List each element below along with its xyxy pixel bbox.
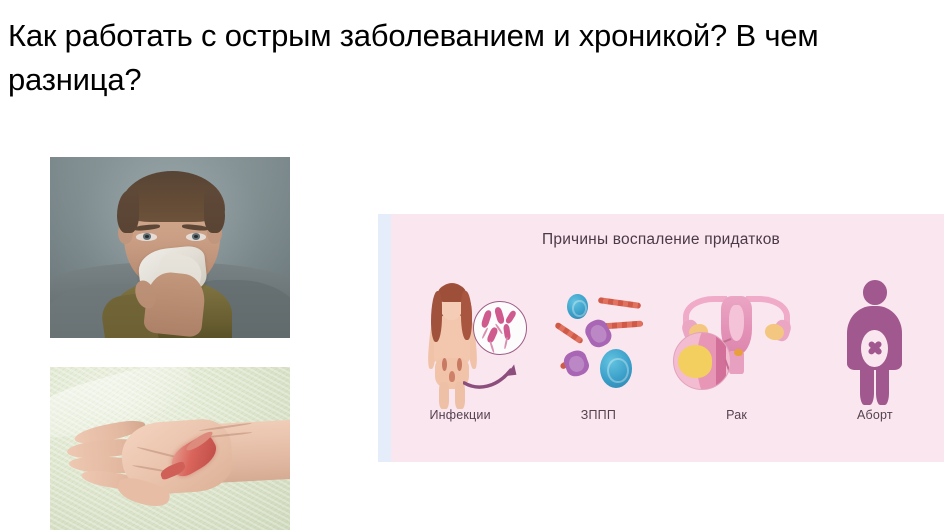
hair-right-shape [461, 291, 472, 340]
spirochete-shape [554, 322, 584, 345]
leg-left-shape [860, 368, 873, 405]
bacterium-shape [480, 310, 492, 329]
infographic-panel: Причины воспаление придатков [378, 214, 944, 462]
infographic-item-label: Рак [726, 408, 747, 422]
pictogram-shape [844, 280, 905, 404]
tumor-mass-shape [678, 345, 713, 377]
flagellum-shape [503, 337, 507, 349]
head-shape [863, 280, 887, 305]
slide: Как работать с острым заболеванием и хро… [0, 0, 944, 530]
bacterium-shape [561, 348, 591, 380]
woman-with-bacteria-lens-icon [391, 272, 529, 404]
infographic-item-std: ЗППП [529, 272, 667, 452]
side-strip [378, 214, 391, 462]
magnifier-lens-tumor [673, 332, 731, 390]
ovary-right-shape [457, 358, 462, 371]
uterus-tumor-icon [668, 272, 806, 404]
infographic-item-infections: Инфекции [391, 272, 529, 452]
bacterium-shape [582, 316, 615, 351]
infographic-item-label: Инфекции [429, 408, 490, 422]
leg-left-shape [439, 382, 449, 409]
uterus-shape [449, 371, 455, 382]
bacterium-shape [505, 310, 517, 324]
page-title: Как работать с острым заболеванием и хро… [8, 14, 888, 102]
leg-right-shape [876, 368, 889, 405]
spirochete-shape [598, 298, 642, 310]
photo-vignette [50, 157, 290, 338]
microbes-icon [529, 272, 667, 404]
infographic-items: Инфекции ЗППП [391, 272, 944, 452]
photo-injured-hand [50, 367, 290, 530]
magnifier-lens-bacteria [473, 301, 527, 355]
infographic-item-label: Аборт [857, 408, 893, 422]
pointer-arrow-icon [463, 354, 521, 391]
ovary-left-shape [442, 358, 447, 371]
pregnant-woman-cross-icon [806, 272, 944, 404]
uterus-diagram-shape [676, 288, 798, 394]
virus-sphere-shape [600, 349, 632, 388]
photo-man-with-cold [50, 157, 290, 338]
infographic-item-label: ЗППП [581, 408, 616, 422]
uterine-cavity-shape [729, 305, 744, 341]
virus-sphere-shape [567, 294, 588, 319]
infographic-item-cancer: Рак [668, 272, 806, 452]
microbe-group-shape [551, 288, 645, 394]
infographic-item-abortion: Аборт [806, 272, 944, 452]
infographic-title: Причины воспаление придатков [378, 231, 944, 249]
bacterium-shape [494, 307, 505, 325]
